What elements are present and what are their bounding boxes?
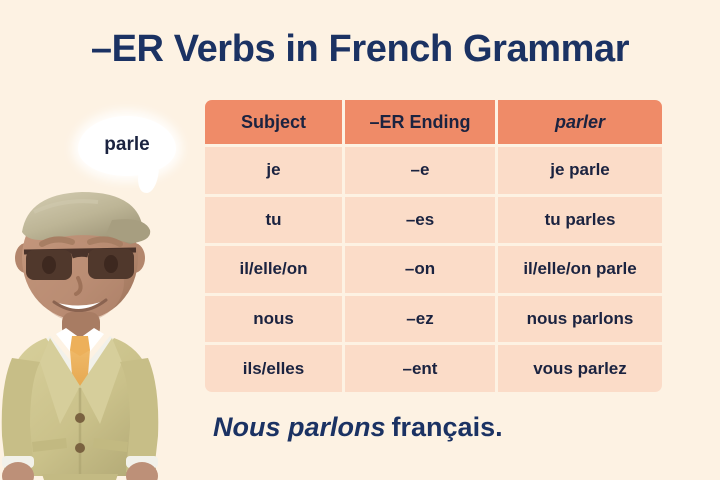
table-header-row: Subject –ER Ending parler <box>205 100 662 144</box>
column-header-er-ending: –ER Ending <box>345 100 495 144</box>
page-title: –ER Verbs in French Grammar <box>0 28 720 71</box>
example-sentence-emphasis: Nous parlons <box>213 412 386 442</box>
table-row: ils/elles –ent vous parlez <box>205 345 662 392</box>
cell-ending: –on <box>345 246 495 293</box>
table-row: il/elle/on –on il/elle/on parle <box>205 246 662 293</box>
character-illustration <box>0 186 190 480</box>
table-row: nous –ez nous parlons <box>205 296 662 343</box>
infographic-canvas: –ER Verbs in French Grammar parle <box>0 0 720 480</box>
speech-bubble-text: parle <box>104 134 149 156</box>
man-with-flat-cap-and-sunglasses-icon <box>0 186 190 480</box>
table-row: tu –es tu parles <box>205 197 662 244</box>
cell-subject: tu <box>205 197 342 244</box>
cell-ending: –ez <box>345 296 495 343</box>
cell-subject: il/elle/on <box>205 246 342 293</box>
cell-subject: nous <box>205 296 342 343</box>
cell-subject: je <box>205 147 342 194</box>
cell-conjugation: il/elle/on parle <box>498 246 662 293</box>
cell-conjugation: je parle <box>498 147 662 194</box>
cell-ending: –e <box>345 147 495 194</box>
cell-conjugation: nous parlons <box>498 296 662 343</box>
example-sentence-rest: français. <box>392 412 503 442</box>
cell-conjugation: tu parles <box>498 197 662 244</box>
cell-subject: ils/elles <box>205 345 342 392</box>
column-header-subject: Subject <box>205 100 342 144</box>
table-row: je –e je parle <box>205 147 662 194</box>
cell-conjugation: vous parlez <box>498 345 662 392</box>
cell-ending: –es <box>345 197 495 244</box>
conjugation-table: Subject –ER Ending parler je –e je parle… <box>205 100 662 392</box>
column-header-parler: parler <box>498 100 662 144</box>
speech-bubble: parle <box>78 116 176 176</box>
example-sentence: Nous parlonsfrançais. <box>213 412 503 443</box>
cell-ending: –ent <box>345 345 495 392</box>
